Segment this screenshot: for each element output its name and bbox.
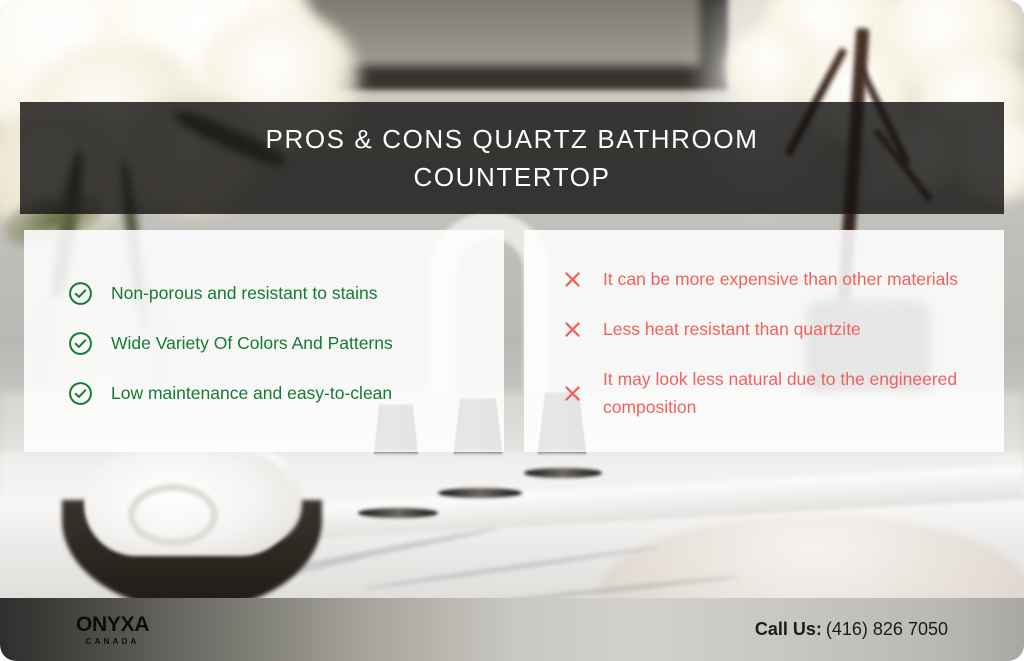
pros-card: Non-porous and resistant to stains Wide …	[24, 230, 504, 452]
comparison-cards: Non-porous and resistant to stains Wide …	[24, 230, 1004, 452]
list-item: Less heat resistant than quartzite	[560, 315, 984, 343]
pros-item-text: Low maintenance and easy-to-clean	[111, 379, 392, 407]
faucet-handle-base	[358, 508, 438, 518]
infographic-card: PROS & CONS QUARTZ BATHROOM COUNTERTOP N…	[0, 0, 1024, 661]
phone-number[interactable]: (416) 826 7050	[826, 619, 948, 639]
pros-item-text: Wide Variety Of Colors And Patterns	[111, 329, 393, 357]
list-item: Non-porous and resistant to stains	[68, 279, 484, 307]
logo-wordmark: ONYXA	[76, 614, 149, 635]
faucet-handle-base	[524, 468, 602, 478]
cross-icon	[560, 381, 585, 406]
list-item: Wide Variety Of Colors And Patterns	[68, 329, 484, 357]
cons-item-text: It can be more expensive than other mate…	[603, 265, 958, 293]
pros-item-text: Non-porous and resistant to stains	[111, 279, 378, 307]
list-item: Low maintenance and easy-to-clean	[68, 379, 484, 407]
brand-logo[interactable]: ONYXA CANADA	[76, 614, 149, 646]
list-item: It can be more expensive than other mate…	[560, 265, 984, 293]
cons-card: It can be more expensive than other mate…	[524, 230, 1004, 452]
cherry-blossom	[726, 26, 822, 110]
cross-icon	[560, 317, 585, 342]
check-circle-icon	[68, 331, 93, 356]
title-overlay-bar: PROS & CONS QUARTZ BATHROOM COUNTERTOP	[20, 102, 1004, 214]
cross-icon	[560, 267, 585, 292]
call-us-label: Call Us:	[755, 619, 822, 639]
call-us-block[interactable]: Call Us:(416) 826 7050	[755, 619, 948, 640]
page-title: PROS & CONS QUARTZ BATHROOM COUNTERTOP	[232, 120, 792, 196]
check-circle-icon	[68, 381, 93, 406]
logo-subtitle: CANADA	[86, 638, 140, 646]
faucet-handle-base	[438, 488, 522, 498]
towel-swirl	[128, 484, 218, 546]
check-circle-icon	[68, 281, 93, 306]
cons-item-text: Less heat resistant than quartzite	[603, 315, 861, 343]
footer-bar: ONYXA CANADA Call Us:(416) 826 7050	[0, 598, 1024, 661]
list-item: It may look less natural due to the engi…	[560, 365, 984, 421]
cons-item-text: It may look less natural due to the engi…	[603, 365, 984, 421]
